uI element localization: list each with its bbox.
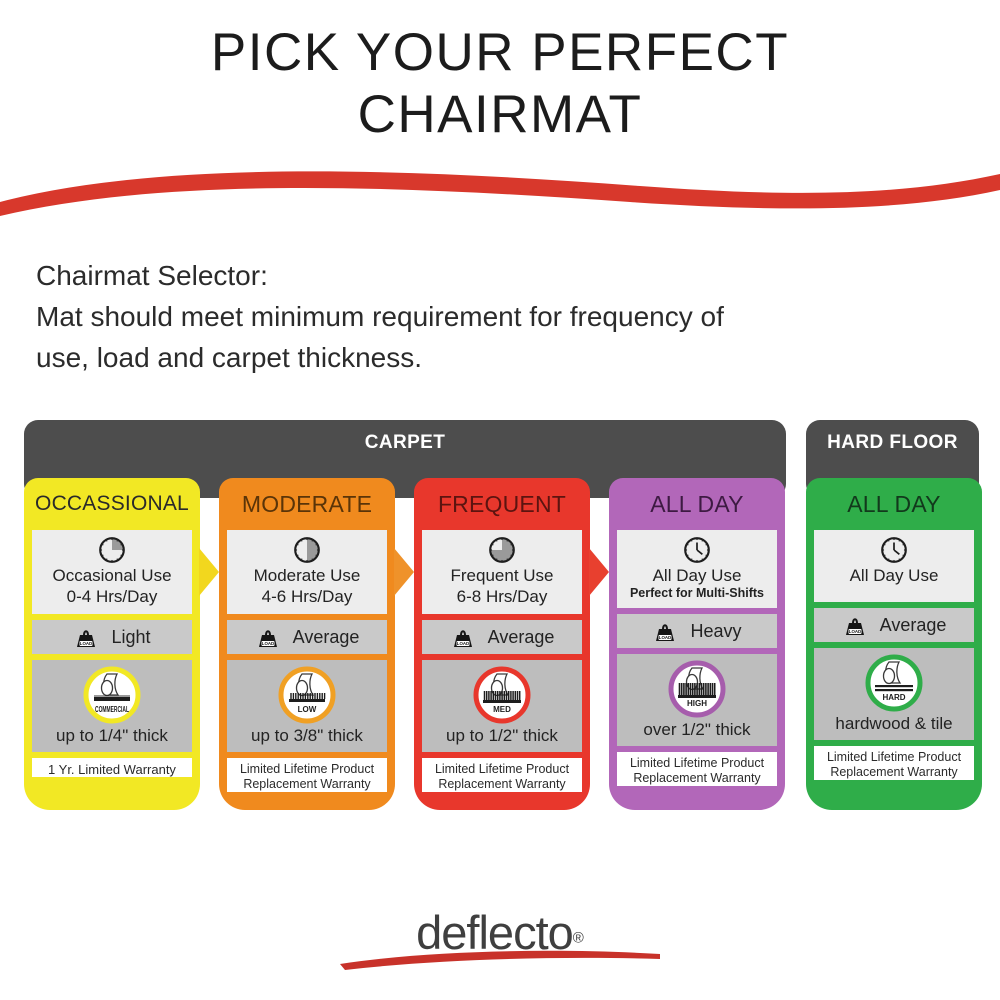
thickness-cell: HARD hardwood & tile xyxy=(814,648,974,740)
thickness-cell: LOW up to 3/8" thick xyxy=(227,660,387,752)
svg-text:HIGH: HIGH xyxy=(687,699,707,708)
usage-cell: All Day Use xyxy=(814,530,974,602)
usage-hours: 6-8 Hrs/Day xyxy=(426,587,578,607)
pile-badge-icon: COMMERCIAL xyxy=(36,666,188,724)
thickness-value: hardwood & tile xyxy=(818,714,970,734)
load-weight-icon: LOAD xyxy=(450,624,476,650)
svg-text:MED: MED xyxy=(493,705,511,714)
load-cell: LOAD Heavy xyxy=(617,614,777,648)
logo-swoosh xyxy=(0,948,1000,974)
usage-title: Moderate Use xyxy=(231,566,383,586)
intro-line-1: Chairmat Selector: xyxy=(36,255,966,296)
load-cell: LOAD Average xyxy=(422,620,582,654)
clock-icon xyxy=(818,535,970,565)
flow-arrow-2 xyxy=(394,548,414,596)
chairmat-selector-chart: CARPET HARD FLOOR OCCASSIONAL Occasional… xyxy=(24,420,979,810)
usage-title: Frequent Use xyxy=(426,566,578,586)
load-value: Average xyxy=(293,627,360,648)
load-weight-icon: LOAD xyxy=(73,624,99,650)
svg-text:LOAD: LOAD xyxy=(848,629,860,634)
usage-cell: Moderate Use 4-6 Hrs/Day xyxy=(227,530,387,614)
svg-text:LOAD: LOAD xyxy=(456,641,468,646)
group-label-carpet: CARPET xyxy=(24,432,786,454)
load-weight-icon: LOAD xyxy=(652,618,678,644)
flow-arrow-3 xyxy=(589,548,609,596)
usage-hours: 4-6 Hrs/Day xyxy=(231,587,383,607)
thickness-value: over 1/2" thick xyxy=(621,720,773,740)
usage-title: Occasional Use xyxy=(36,566,188,586)
thickness-value: up to 3/8" thick xyxy=(231,726,383,746)
usage-cell: Frequent Use 6-8 Hrs/Day xyxy=(422,530,582,614)
usage-cell: Occasional Use 0-4 Hrs/Day xyxy=(32,530,192,614)
usage-hours: 0-4 Hrs/Day xyxy=(36,587,188,607)
intro-line-2: Mat should meet minimum requirement for … xyxy=(36,296,966,337)
pile-badge-icon: HIGH xyxy=(621,660,773,718)
load-value: Heavy xyxy=(690,621,741,642)
chart-column-4[interactable]: ALL DAY All Day Use Perfect for Multi-Sh… xyxy=(609,478,785,786)
clock-icon xyxy=(621,535,773,565)
svg-text:LOAD: LOAD xyxy=(659,635,671,640)
svg-text:LOAD: LOAD xyxy=(261,641,273,646)
svg-text:COMMERCIAL: COMMERCIAL xyxy=(95,705,129,714)
load-value: Average xyxy=(880,615,947,636)
column-title: FREQUENT xyxy=(414,478,590,530)
clock-icon xyxy=(36,535,188,565)
column-title: ALL DAY xyxy=(609,478,785,530)
usage-cell: All Day Use Perfect for Multi-Shifts xyxy=(617,530,777,608)
thickness-value: up to 1/4" thick xyxy=(36,726,188,746)
svg-text:HARD: HARD xyxy=(882,693,905,702)
warranty-text: 1 Yr. Limited Warranty xyxy=(32,758,192,777)
column-title: ALL DAY xyxy=(806,478,982,530)
clock-icon xyxy=(231,535,383,565)
intro-line-3: use, load and carpet thickness. xyxy=(36,337,966,378)
load-weight-icon: LOAD xyxy=(255,624,281,650)
pile-badge-icon: LOW xyxy=(231,666,383,724)
load-value: Light xyxy=(111,627,150,648)
svg-text:LOAD: LOAD xyxy=(80,641,92,646)
load-weight-icon: LOAD xyxy=(842,612,868,638)
column-title: MODERATE xyxy=(219,478,395,530)
thickness-cell: HIGH over 1/2" thick xyxy=(617,654,777,746)
pile-badge-icon: HARD xyxy=(818,654,970,712)
warranty-text: Limited Lifetime Product Replacement War… xyxy=(814,746,974,780)
chart-column-5[interactable]: ALL DAY All Day Use LOAD Average xyxy=(806,478,982,780)
group-label-hard-floor: HARD FLOOR xyxy=(806,432,979,454)
svg-text:LOW: LOW xyxy=(298,705,317,714)
red-swoosh-divider xyxy=(0,162,1000,220)
load-value: Average xyxy=(488,627,555,648)
chart-column-1[interactable]: OCCASSIONAL Occasional Use 0-4 Hrs/Day L… xyxy=(24,478,200,777)
warranty-text: Limited Lifetime Product Replacement War… xyxy=(227,758,387,792)
thickness-cell: MED up to 1/2" thick xyxy=(422,660,582,752)
usage-subtext: Perfect for Multi-Shifts xyxy=(621,586,773,601)
infographic-page: PICK YOUR PERFECT CHAIRMAT Chairmat Sele… xyxy=(0,0,1000,1000)
chart-column-3[interactable]: FREQUENT Frequent Use 6-8 Hrs/Day LOAD A… xyxy=(414,478,590,792)
clock-icon xyxy=(426,535,578,565)
warranty-text: Limited Lifetime Product Replacement War… xyxy=(422,758,582,792)
thickness-value: up to 1/2" thick xyxy=(426,726,578,746)
load-cell: LOAD Light xyxy=(32,620,192,654)
thickness-cell: COMMERCIAL up to 1/4" thick xyxy=(32,660,192,752)
title-line-1: PICK YOUR PERFECT xyxy=(0,22,1000,84)
pile-badge-icon: MED xyxy=(426,666,578,724)
page-title: PICK YOUR PERFECT CHAIRMAT xyxy=(0,22,1000,146)
usage-title: All Day Use xyxy=(621,566,773,586)
chart-column-2[interactable]: MODERATE Moderate Use 4-6 Hrs/Day LOAD A… xyxy=(219,478,395,792)
load-cell: LOAD Average xyxy=(814,608,974,642)
intro-text: Chairmat Selector: Mat should meet minim… xyxy=(36,255,966,378)
column-title: OCCASSIONAL xyxy=(24,478,200,530)
title-line-2: CHAIRMAT xyxy=(0,84,1000,146)
registered-mark-icon: ® xyxy=(573,930,584,947)
usage-title: All Day Use xyxy=(818,566,970,586)
flow-arrow-1 xyxy=(199,548,219,596)
warranty-text: Limited Lifetime Product Replacement War… xyxy=(617,752,777,786)
load-cell: LOAD Average xyxy=(227,620,387,654)
